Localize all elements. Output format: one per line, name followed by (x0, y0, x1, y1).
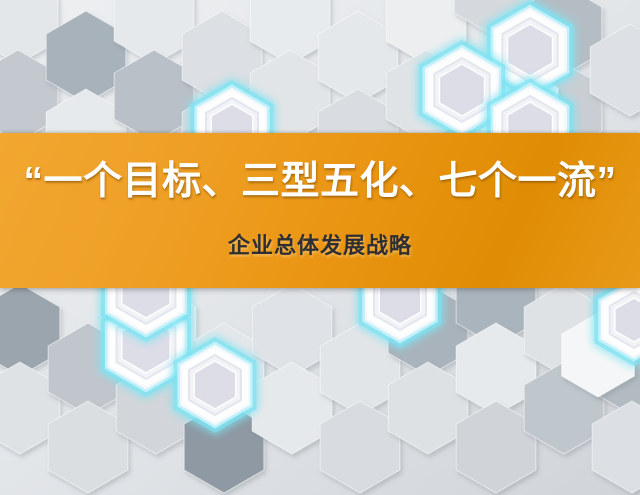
glowing-hexagon (176, 340, 254, 430)
title-banner-inner: “一个目标、三型五化、七个一流” 企业总体发展战略 (0, 133, 640, 288)
presentation-slide: “一个目标、三型五化、七个一流” 企业总体发展战略 (0, 0, 640, 495)
page-subtitle: 企业总体发展战略 (0, 233, 640, 259)
page-title: “一个目标、三型五化、七个一流” (0, 159, 640, 205)
title-banner: “一个目标、三型五化、七个一流” 企业总体发展战略 (0, 133, 640, 288)
